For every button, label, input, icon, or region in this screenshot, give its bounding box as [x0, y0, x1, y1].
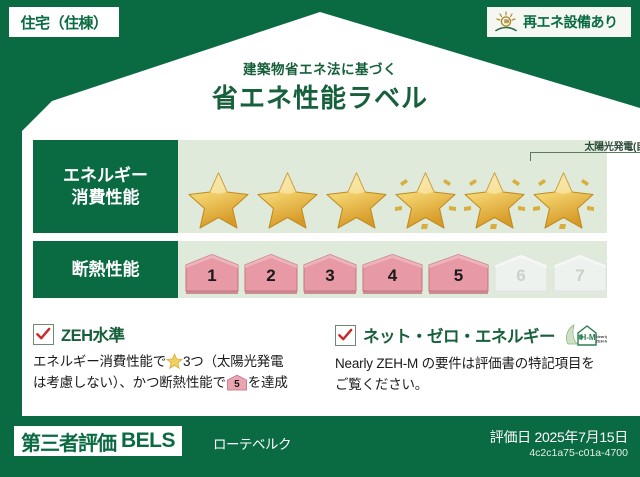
renewable-equipment-label: 再エネ設備あり	[523, 12, 618, 32]
star-filled	[322, 167, 391, 231]
energy-performance-label: 住宅（住棟） 再エネ設備あり 建築物省エネ法に基づく 省エネ性能ラベル	[0, 0, 640, 477]
insulation-level-6: 6	[493, 253, 549, 295]
zeh-text-part2: は考慮しない）、かつ断熱性能で	[33, 375, 226, 390]
bels-jp-label: 第三者評価	[21, 427, 116, 456]
bels-badge: 第三者評価 BELS	[14, 426, 182, 456]
insulation-level-value: 5	[427, 266, 490, 286]
solar-bracket	[530, 152, 640, 161]
building-type-chip: 住宅（住棟）	[9, 7, 119, 37]
label-uid: 4c2c1a75-c01a-4700	[529, 447, 628, 459]
insulation-row-body: 1 2 3 4 5	[178, 241, 607, 298]
insulation-level-value: 2	[243, 266, 299, 286]
sun-icon	[491, 10, 521, 34]
insulation-scale: 1 2 3 4 5	[178, 241, 607, 298]
inline-star-icon	[166, 353, 183, 369]
building-type-label: 住宅（住棟）	[20, 12, 107, 33]
zeh-description: エネルギー消費性能で3つ（太陽光発電は考慮しない）、かつ断熱性能で5を達成	[33, 352, 299, 394]
insulation-level-value: 7	[552, 266, 608, 286]
star-rating	[178, 167, 607, 231]
energy-performance-row: エネルギー 消費性能 太陽光発電(自家消費)分	[33, 140, 607, 233]
insulation-row-label: 断熱性能	[33, 241, 178, 298]
insulation-level-value: 6	[493, 266, 549, 286]
insulation-label: 断熱性能	[72, 259, 140, 280]
footer-bar: 第三者評価 BELS ローテベルク 評価日 2025年7月15日 4c2c1a7…	[0, 416, 640, 477]
zeh-text-part3: を達成	[248, 375, 288, 390]
star-filled	[253, 167, 322, 231]
insulation-level-1: 1	[184, 253, 240, 295]
svg-text:H-M: H-M	[580, 333, 595, 342]
zeh-checkbox[interactable]	[33, 324, 54, 345]
energy-label-line2: 消費性能	[72, 187, 140, 208]
nze-checkbox[interactable]	[335, 325, 356, 346]
inline-house-value: 5	[226, 377, 248, 393]
insulation-level-7: 7	[552, 253, 608, 295]
nze-description: Nearly ZEH-M の要件は評価書の特記項目をご覧ください。	[335, 354, 607, 396]
owner-name: ローテベルク	[213, 433, 291, 453]
renewable-equipment-chip: 再エネ設備あり	[487, 7, 631, 37]
evaluation-date-label: 評価日	[490, 429, 531, 445]
star-solar	[460, 167, 529, 231]
bels-en-label: BELS	[121, 429, 175, 453]
zeh-m-logo-icon: H-M Nearly ZEH-M	[565, 322, 607, 348]
energy-performance-row-body: 太陽光発電(自家消費)分	[178, 140, 607, 233]
criterion-net-zero-energy: ネット・ゼロ・エネルギー H-M Nearly ZEH-M Nearly ZEH…	[315, 322, 607, 396]
criteria-section: ZEH水準 エネルギー消費性能で3つ（太陽光発電は考慮しない）、かつ断熱性能で5…	[33, 322, 607, 396]
evaluation-date: 評価日 2025年7月15日	[490, 427, 628, 447]
page-title: 省エネ性能ラベル	[0, 78, 640, 115]
insulation-level-value: 4	[361, 266, 424, 286]
star-solar	[529, 167, 598, 231]
svg-text:ZEH-M: ZEH-M	[596, 339, 607, 344]
criterion-nze-header: ネット・ゼロ・エネルギー H-M Nearly ZEH-M	[335, 322, 607, 348]
nze-title: ネット・ゼロ・エネルギー	[363, 323, 555, 347]
insulation-level-5: 5	[427, 253, 490, 295]
insulation-performance-row: 断熱性能 1 2 3	[33, 241, 607, 298]
energy-performance-row-label: エネルギー 消費性能	[33, 140, 178, 233]
criterion-zeh: ZEH水準 エネルギー消費性能で3つ（太陽光発電は考慮しない）、かつ断熱性能で5…	[33, 322, 315, 396]
criterion-zeh-header: ZEH水準	[33, 322, 299, 346]
star-solar	[391, 167, 460, 231]
zeh-text-part1: エネルギー消費性能で	[33, 354, 166, 369]
inline-house-icon: 5	[226, 374, 248, 391]
insulation-level-value: 1	[184, 266, 240, 286]
energy-label-line1: エネルギー	[63, 165, 148, 186]
solar-generation-note: 太陽光発電(自家消費)分	[530, 138, 640, 153]
label-subtitle: 建築物省エネ法に基づく	[0, 58, 640, 78]
zeh-text-stars: 3つ（太陽光発電	[183, 354, 283, 369]
insulation-level-3: 3	[302, 253, 358, 295]
evaluation-date-value: 2025年7月15日	[534, 429, 628, 445]
zeh-title: ZEH水準	[61, 322, 125, 346]
insulation-level-value: 3	[302, 266, 358, 286]
star-filled	[184, 167, 253, 231]
insulation-level-2: 2	[243, 253, 299, 295]
insulation-level-4: 4	[361, 253, 424, 295]
